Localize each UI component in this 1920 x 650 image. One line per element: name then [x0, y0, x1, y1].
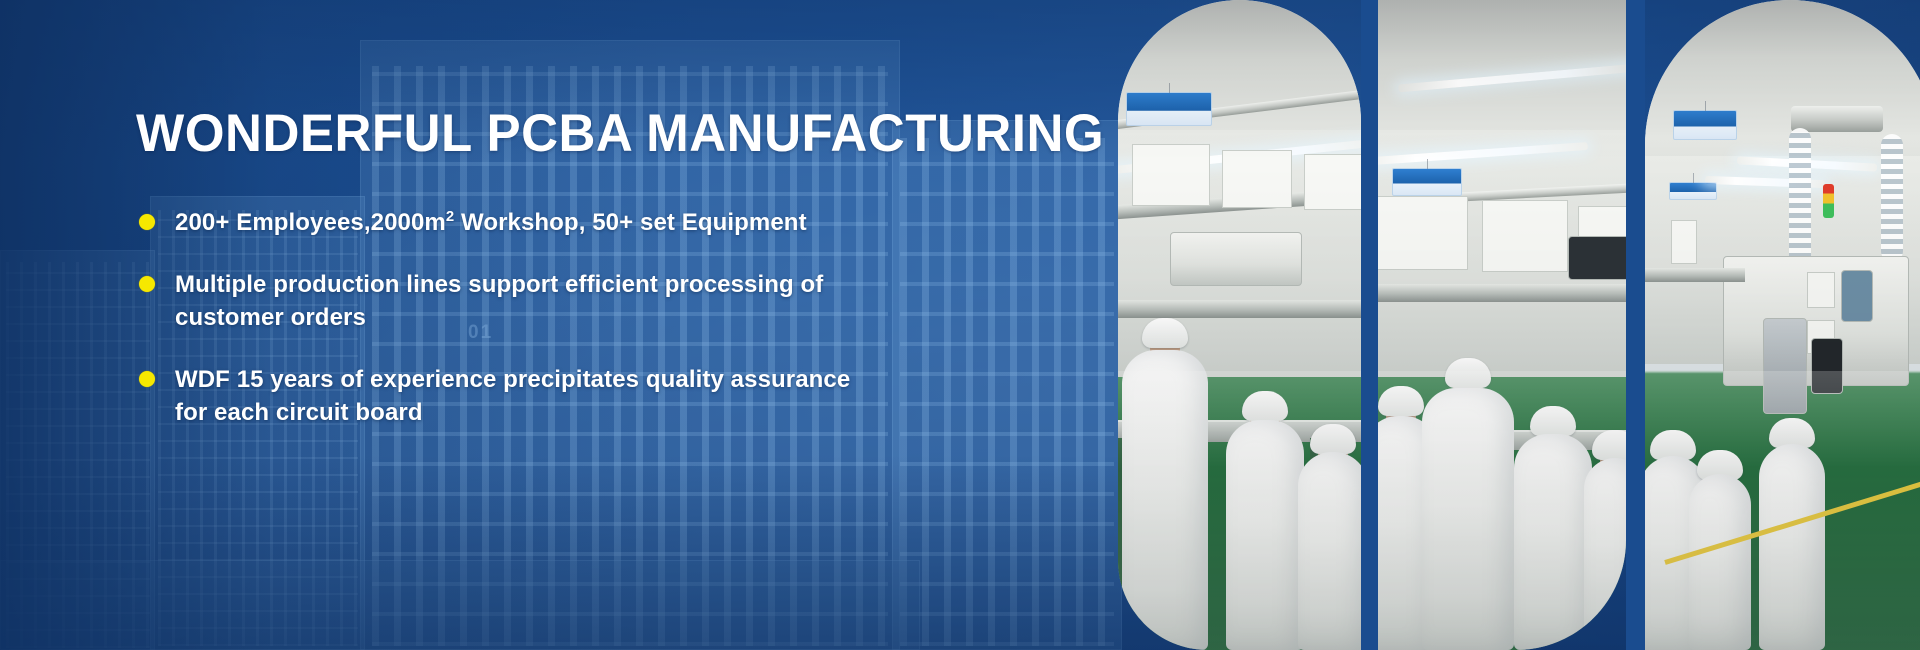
page-title: WONDERFUL PCBA MANUFACTURING	[136, 106, 1104, 162]
banner-content: WONDERFUL PCBA MANUFACTURING 200+ Employ…	[136, 0, 926, 650]
feature-list: 200+ Employees,2000m2 Workshop, 50+ set …	[139, 206, 899, 458]
panel-separator-2	[1626, 0, 1645, 650]
photo-shade-2	[1378, 0, 1626, 650]
feature-text-experience: WDF 15 years of experience precipitates …	[175, 363, 875, 430]
list-item: 200+ Employees,2000m2 Workshop, 50+ set …	[139, 206, 899, 240]
photo-panel-smt-line-center	[1378, 0, 1626, 650]
photo-panel-smt-line-left	[1118, 0, 1361, 650]
bullet-dot-icon	[139, 276, 155, 292]
feature-text-employees: 200+ Employees,2000m2 Workshop, 50+ set …	[175, 206, 807, 240]
photo-shade-3	[1645, 0, 1920, 650]
feature-text-production-lines: Multiple production lines support effici…	[175, 268, 875, 335]
list-item: Multiple production lines support effici…	[139, 268, 899, 335]
photo-shade-1	[1118, 0, 1361, 650]
pcba-manufacturing-banner: 01	[0, 0, 1920, 650]
list-item: WDF 15 years of experience precipitates …	[139, 363, 899, 430]
photo-scene-3	[1645, 0, 1920, 650]
feature-text-part-b: Workshop, 50+ set Equipment	[454, 209, 806, 236]
photo-scene-1	[1118, 0, 1361, 650]
panel-separator-1	[1361, 0, 1378, 650]
bullet-dot-icon	[139, 371, 155, 387]
feature-text-part-a: 200+ Employees,2000m	[175, 209, 446, 236]
photo-panel-smt-machine-right	[1645, 0, 1920, 650]
bullet-dot-icon	[139, 214, 155, 230]
photo-scene-2	[1378, 0, 1626, 650]
square-meter-superscript: 2	[446, 209, 454, 225]
